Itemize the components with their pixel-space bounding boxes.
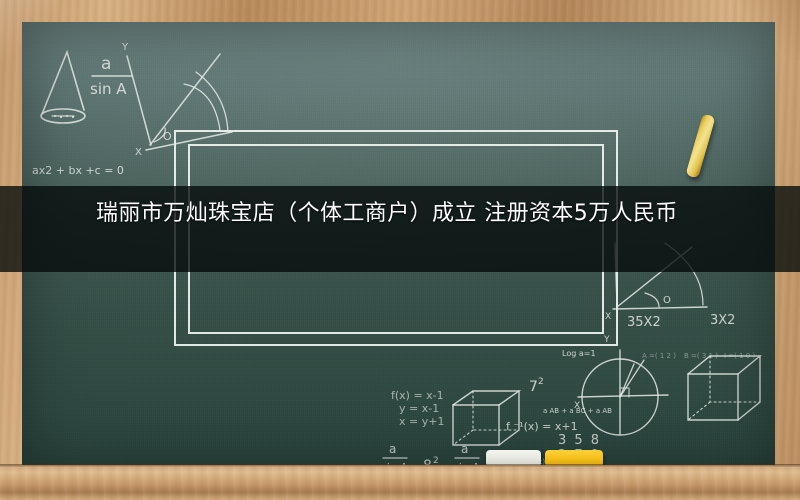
fraction-numerator: a (389, 442, 396, 456)
angle-label: O (163, 130, 172, 143)
fraction-numerator: a (101, 54, 111, 74)
addend-top: 3 5 8 (558, 433, 601, 448)
multiplication-35x2: 35X2 (627, 315, 661, 330)
inverse-function: f ⁻¹(x) = x+1 (506, 420, 578, 433)
chalk-ledge-grain (0, 465, 800, 500)
multiplication-3x2: 3X2 (710, 313, 735, 328)
power-seven: 7 2 (529, 377, 544, 395)
log-expression: Log a=1 (562, 349, 596, 358)
matrix-a: A =( 1 2 ) (642, 352, 676, 360)
fraction-denominator: sin A (90, 80, 127, 98)
angle-label: O (663, 295, 671, 306)
yellow-chalk-stick-icon (685, 113, 715, 178)
matrix-i: I =( 1 0 ) (724, 352, 755, 360)
matrix-group: A =( 1 2 ) B =( 3 1 ) I =( 1 0 ) (642, 352, 755, 360)
exponent-seven: 2 (538, 377, 544, 387)
equation-x: x = y+1 (399, 415, 444, 428)
chalkboard-banner-image: a sin A Y X O ax2 + bx +c = 0 (0, 0, 800, 500)
axis-label-y: Y (121, 42, 129, 53)
cube-drawing-right (688, 356, 760, 420)
equation-y: y = x-1 (399, 402, 439, 415)
cone-drawing (41, 52, 85, 123)
fraction-a-over-sinA: a sin A (90, 54, 132, 98)
matrix-expression: a AB + a BC + a AB (543, 407, 612, 415)
axis-label-x: X (135, 147, 142, 158)
headline-text: 瑞丽市万灿珠宝店（个体工商户）成立 注册资本5万人民币 (96, 197, 721, 230)
equation-fx: f(x) = x-1 (391, 389, 444, 402)
axis-label-x: X (574, 401, 580, 411)
quadratic-equation: ax2 + bx +c = 0 (32, 164, 124, 177)
function-equations: f(x) = x-1 y = x-1 x = y+1 (391, 389, 444, 428)
base-seven: 7 (529, 379, 538, 395)
fraction-numerator: a (461, 442, 468, 456)
cube-drawing (453, 391, 519, 445)
circle-angle-diagram: Y X (574, 335, 668, 435)
matrix-b: B =( 3 1 ) (684, 352, 718, 360)
chalk-ledge-lip (0, 464, 800, 468)
